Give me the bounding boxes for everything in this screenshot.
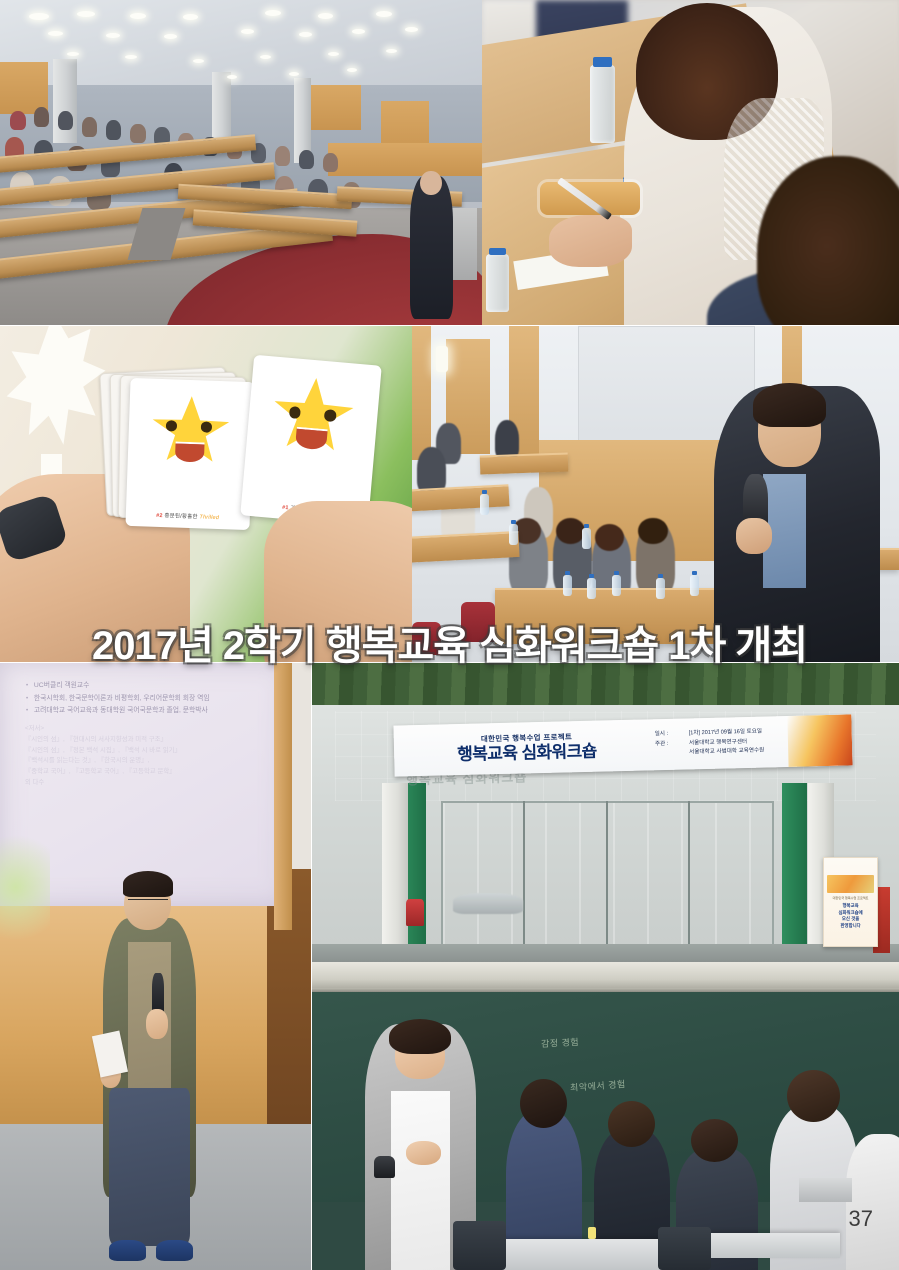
slide-bullet: 고려대학교 국어교육과 동대학원 국어국문학과 졸업, 문학박사: [34, 706, 286, 717]
green-pillar: [782, 783, 808, 962]
slide-line: 『시인의 섬』, 『정본 백석 시집』, 『백석 시 바로 읽기』: [25, 746, 286, 757]
female-speaker-top: [391, 1091, 450, 1270]
ceiling-light: [29, 13, 49, 20]
ceiling-light: [265, 10, 281, 16]
slide-line: 『백석시를 읽는다는 것』, 『한국시의 운명』,: [25, 756, 286, 767]
presenter-slide-scene: UC버클리 객원교수 한국시학회, 한국문학이론과 비평학회, 우리어문학회 회…: [0, 663, 311, 1270]
ceiling-light: [318, 13, 333, 19]
ceiling-light: [328, 52, 339, 56]
standee-supertitle: 대한민국 행복수업 프로젝트: [833, 895, 869, 900]
presenter-jeans: [109, 1088, 190, 1246]
water-bottle: [486, 254, 509, 313]
card-number: #2: [156, 513, 163, 519]
standee-text: 행복교육 심화워크숍에 오신 것을 환영합니다: [838, 903, 862, 929]
front-desk: [495, 588, 719, 644]
pillar: [382, 783, 408, 962]
attendee-head: [787, 1070, 840, 1122]
attendee-head: [691, 1119, 738, 1162]
standee-line: 행복교육: [838, 903, 862, 910]
ceiling-light: [193, 59, 204, 63]
water-bottle: [590, 65, 615, 143]
projected-slide-content: UC버클리 객원교수 한국시학회, 한국문학이론과 비평학회, 우리어문학회 회…: [25, 681, 286, 900]
presenter-hand: [146, 1009, 168, 1039]
chair-back: [658, 1227, 711, 1270]
card-label-en: Thrilled: [199, 515, 219, 522]
slide-section-heading: <저서>: [25, 724, 286, 735]
photo-emotion-cards: #2 흥분된/황홀한 Thrilled #1 기쁜 Delighted: [0, 326, 412, 662]
speaker-head: [420, 171, 441, 195]
emotion-card-2-caption: #2 흥분된/황홀한 Thrilled: [125, 510, 249, 522]
water-bottle: [587, 578, 596, 599]
wall-above-board: [312, 962, 899, 990]
chair: [461, 602, 495, 642]
lecture-hall-scene: [0, 0, 482, 325]
star-mouth-icon: [174, 441, 204, 462]
audience-member: [323, 153, 338, 173]
presenter-shoe: [156, 1240, 193, 1261]
photo-note-taking: [482, 0, 899, 325]
slide-bullet: UC버클리 객원교수: [34, 681, 286, 692]
emotion-card-2[interactable]: #2 흥분된/황홀한 Thrilled: [125, 378, 254, 530]
note-taking-scene: [482, 0, 899, 325]
wood-panel-left: [0, 62, 48, 114]
standee-flame-graphic: [827, 875, 875, 893]
water-bottle: [509, 524, 518, 545]
ceiling-light: [376, 11, 392, 17]
male-lecturer-scene: [412, 326, 899, 662]
slide-canvas: #2 흥분된/황홀한 Thrilled #1 기쁜 Delighted: [0, 0, 899, 1270]
photo-venue-building: 행복교육 심화워크숍 대한민국 행복수업 프로젝트 행복교육 심화워크숍 일시 …: [312, 663, 899, 962]
audience-hair: [595, 524, 624, 551]
star-eye-icon: [324, 409, 336, 421]
ceiling-light: [48, 31, 63, 36]
banner-title-block: 대한민국 행복수업 프로젝트 행복교육 심화워크숍: [394, 730, 646, 766]
venue-building-scene: 행복교육 심화워크숍 대한민국 행복수업 프로젝트 행복교육 심화워크숍 일시 …: [312, 663, 899, 962]
ceiling-light: [130, 13, 146, 19]
desk-row: [480, 452, 568, 474]
fire-extinguisher: [406, 899, 424, 926]
water-bottle: [690, 575, 699, 596]
banner-detail-label: [655, 748, 689, 759]
female-speaker-hair: [389, 1019, 450, 1054]
star-eye-icon: [200, 422, 211, 433]
door-divider: [523, 801, 525, 951]
card-label-ko: 흥분된/황홀한: [164, 513, 197, 520]
drink-cup: [588, 1227, 596, 1239]
water-bottle: [656, 578, 665, 599]
laptop: [799, 1178, 852, 1203]
audience-member: [275, 146, 290, 166]
presenter-hair: [123, 871, 173, 896]
bottle-cap: [593, 57, 612, 66]
bottle-cap: [489, 248, 506, 255]
photo-male-lecturer: [412, 326, 899, 662]
water-bottle: [480, 494, 489, 515]
audience-member: [34, 107, 49, 127]
ground-pavement: [312, 944, 899, 962]
ceiling-light: [106, 33, 120, 38]
banner-flame-graphic: [787, 714, 852, 766]
ceiling-light: [227, 75, 237, 79]
parked-car: [453, 893, 523, 914]
photo-lecture-hall: [0, 0, 482, 325]
column-left: [53, 59, 77, 144]
microphone: [374, 1156, 395, 1178]
wood-trim-left: [412, 326, 431, 460]
audience-hair: [638, 518, 667, 545]
wood-panel-mid: [304, 85, 362, 131]
audience-member: [58, 111, 73, 131]
audience-member: [299, 150, 314, 170]
audience-hair: [556, 518, 585, 545]
standee-line: 오신 것을: [838, 916, 862, 923]
page-number: 37: [849, 1206, 873, 1232]
presenter-shoe: [109, 1240, 146, 1261]
star-mouth-icon: [295, 426, 327, 450]
welcome-standee: 대한민국 행복수업 프로젝트 행복교육 심화워크숍에 오신 것을 환영합니다: [823, 857, 879, 947]
door-divider: [606, 801, 608, 951]
chair: [412, 622, 441, 656]
board-rail: [312, 988, 899, 993]
right-hand: [264, 501, 412, 662]
audience-member: [82, 117, 97, 137]
attendee: [846, 1134, 899, 1270]
photo-chalkboard-session: 감정 경험 최악에서 경험: [312, 962, 899, 1270]
slide-line: 외 다수: [25, 778, 286, 789]
chalkboard-session-scene: 감정 경험 최악에서 경험: [312, 962, 899, 1270]
attendee-desk: [711, 1233, 840, 1258]
slide-bullet: 한국시학회, 한국문학이론과 비평학회, 우리어문학회 회장 역임: [34, 694, 286, 705]
banner-detail-value: 서울대학교 사범대학 교육연수원: [689, 747, 764, 759]
lecturer-hair: [753, 383, 826, 427]
attendee-head: [608, 1101, 655, 1147]
banner-detail-label: 일시 :: [655, 729, 689, 740]
water-bottle: [563, 575, 572, 596]
wood-wainscot: [328, 143, 482, 176]
photo-presenter-slide: UC버클리 객원교수 한국시학회, 한국문학이론과 비평학회, 우리어문학회 회…: [0, 663, 311, 1270]
slide-bullet-list: UC버클리 객원교수 한국시학회, 한국문학이론과 비평학회, 우리어문학회 회…: [25, 681, 286, 717]
lecturer-hand: [736, 518, 773, 555]
female-speaker-hand: [406, 1141, 441, 1166]
banner-detail-label: 주관 :: [655, 739, 689, 750]
ceiling-light: [299, 32, 312, 37]
slide-subsection: <저서> 『시인의 섬』, 『현대시의 서사지향성과 미적 구조』 『시인의 섬…: [25, 724, 286, 789]
audience-member: [106, 120, 121, 140]
standee-line: 환영합니다: [838, 923, 862, 930]
writing-hand: [549, 215, 632, 267]
ceiling-light: [386, 49, 397, 53]
speaker-figure: [410, 176, 453, 319]
ceiling-light: [436, 346, 448, 372]
audience-member: [130, 124, 145, 144]
slide-line: 『중학교 국어』, 『고등학교 국어』, 『고등학교 문학』: [25, 767, 286, 778]
glasses-icon: [128, 899, 168, 909]
door-divider: [688, 801, 690, 951]
slide-line: 『시인의 섬』, 『현대시의 서사지향성과 미적 구조』: [25, 735, 286, 746]
ceiling-light: [289, 72, 299, 76]
banner-detail-value: [1차] 2017년 09월 16일 토요일: [689, 727, 763, 739]
water-bottle: [582, 528, 591, 549]
chair-back: [453, 1221, 506, 1270]
audience-member: [10, 111, 26, 131]
water-bottle: [612, 575, 621, 596]
star-eye-icon: [289, 406, 301, 418]
star-eye-icon: [166, 420, 177, 431]
emotion-cards-scene: #2 흥분된/황홀한 Thrilled #1 기쁜 Delighted: [0, 326, 412, 662]
chalk-writing: 감정 경험: [541, 1035, 580, 1050]
